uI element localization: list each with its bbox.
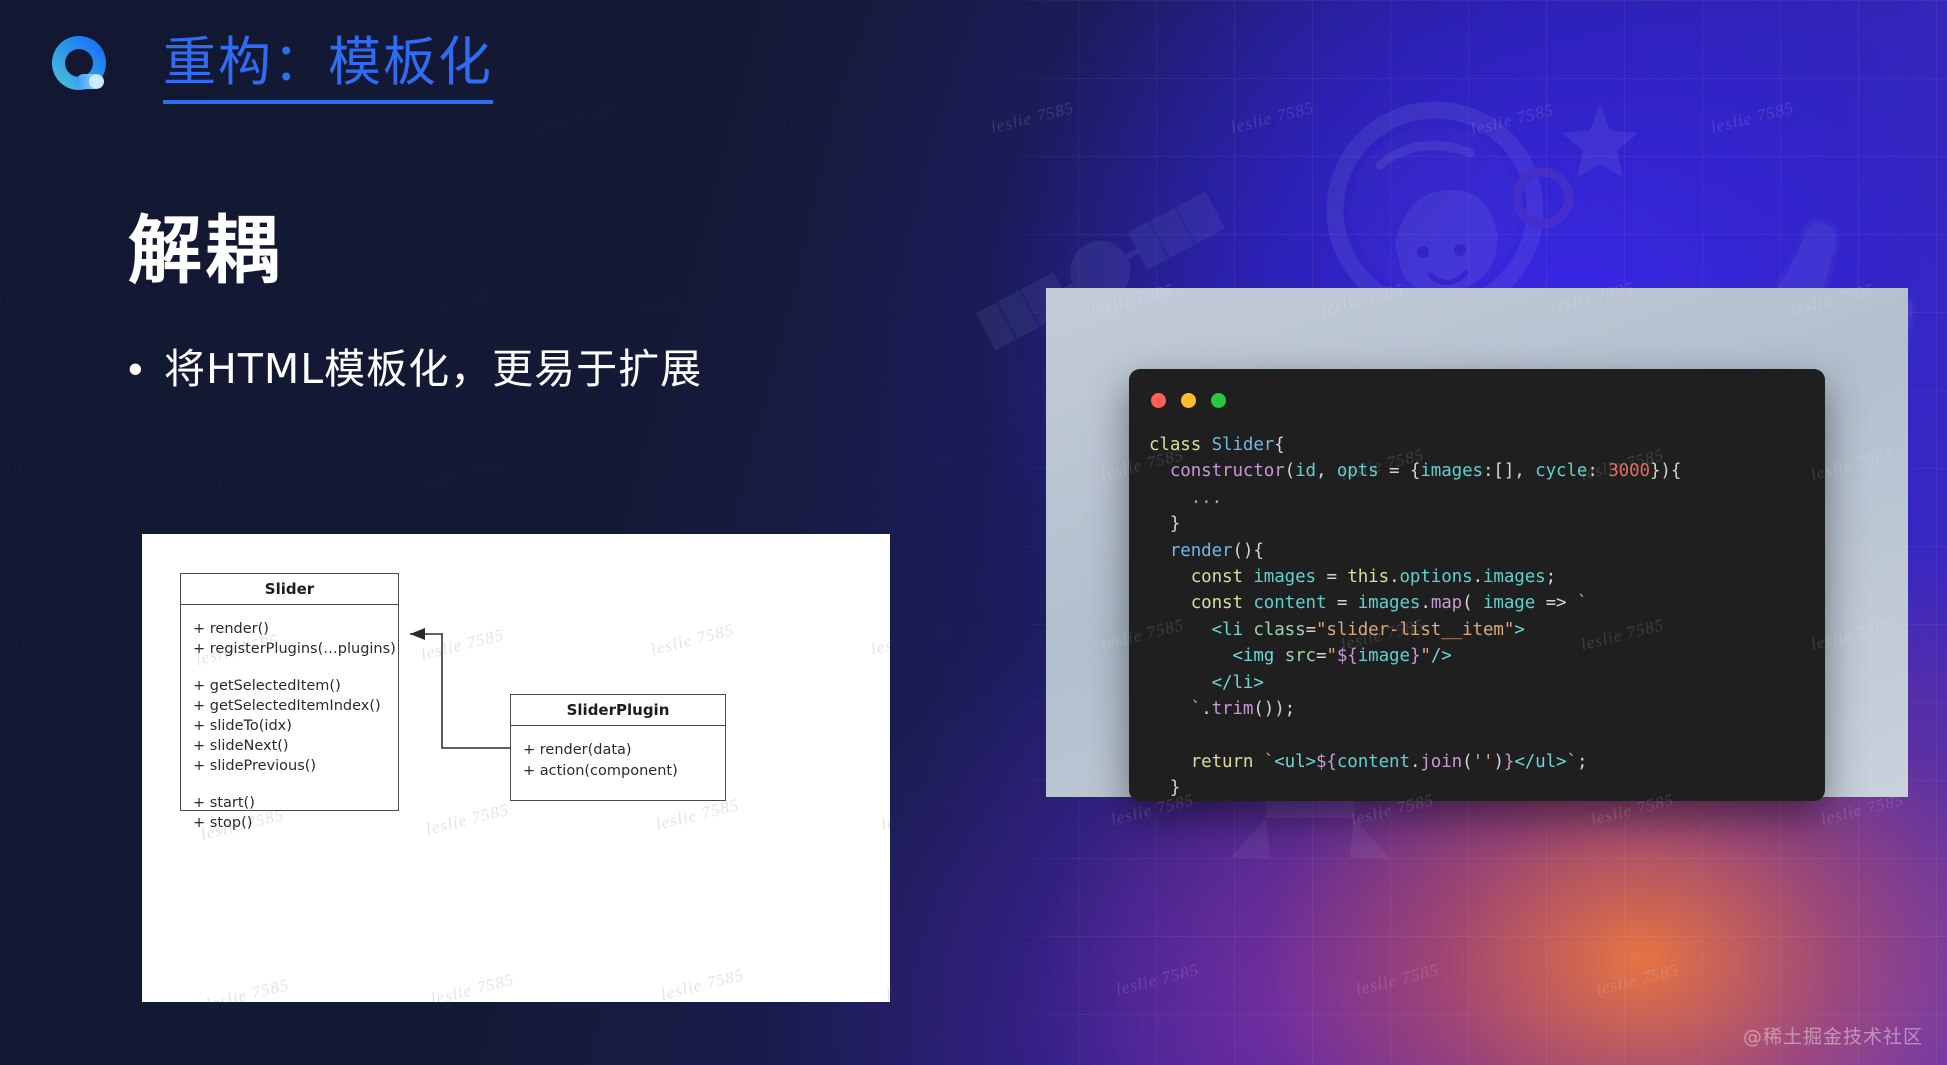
maximize-icon[interactable] — [1211, 393, 1226, 408]
watermark: leslie 7585 — [189, 460, 276, 500]
watermark: leslie 7585 — [1709, 98, 1796, 138]
watermark: leslie 7585 — [759, 100, 846, 140]
watermark: leslie 7585 — [649, 450, 736, 490]
uml-member: + getSelectedItemIndex() — [193, 696, 398, 716]
code-editor-window[interactable]: class Slider{ constructor(id, opts = {im… — [1129, 369, 1825, 801]
window-traffic-lights[interactable] — [1151, 393, 1226, 408]
watermark: leslie 7585 — [884, 965, 971, 1005]
watermark: leslie 7585 — [1469, 100, 1556, 140]
uml-member: + render(data) — [523, 740, 725, 761]
watermark: leslie 7585 — [0, 795, 76, 835]
watermark: leslie 7585 — [94, 118, 181, 158]
watermark: leslie 7585 — [859, 280, 946, 320]
watermark: leslie 7585 — [989, 98, 1076, 138]
minimize-icon[interactable] — [1181, 393, 1196, 408]
star-illustration — [1560, 100, 1640, 180]
watermark: leslie 7585 — [529, 100, 616, 140]
uml-class-title: Slider — [181, 574, 398, 605]
watermark: leslie 7585 — [409, 285, 496, 325]
uml-member: + start() — [193, 793, 398, 813]
section-heading: 解耦 — [128, 208, 282, 294]
watermark: leslie 7585 — [184, 290, 271, 330]
uml-class-slider: Slider + render() + registerPlugins(…plu… — [180, 573, 399, 811]
watermark: leslie 7585 — [0, 445, 76, 485]
uml-member: + slideNext() — [193, 736, 398, 756]
attribution-watermark: @稀土掘金技术社区 — [1743, 1022, 1923, 1049]
slide-canvas: leslie 7585 leslie 7585 leslie 7585 lesl… — [0, 0, 1947, 1065]
watermark: leslie 7585 — [0, 275, 68, 315]
uml-class-members: + render() + registerPlugins(…plugins) +… — [181, 605, 398, 843]
uml-member-spacer — [193, 776, 398, 793]
bullet-marker: • — [128, 340, 142, 398]
uml-member-spacer — [193, 659, 398, 676]
uml-class-sliderplugin: SliderPlugin + render(data) + action(com… — [510, 694, 726, 801]
watermark: leslie 7585 — [419, 455, 506, 495]
watermark: leslie 7585 — [289, 102, 376, 142]
code-content[interactable]: class Slider{ constructor(id, opts = {im… — [1149, 432, 1815, 801]
uml-member: + registerPlugins(…plugins) — [193, 639, 398, 659]
uml-member: + stop() — [193, 813, 398, 833]
watermark: leslie 7585 — [879, 795, 966, 835]
watermark: leslie 7585 — [1114, 960, 1201, 1000]
watermark: leslie 7585 — [0, 965, 74, 1005]
watermark: leslie 7585 — [0, 105, 76, 145]
watermark: leslie 7585 — [1229, 98, 1316, 138]
uml-diagram-panel: Slider + render() + registerPlugins(…plu… — [142, 534, 890, 1002]
close-icon[interactable] — [1151, 393, 1166, 408]
watermark: leslie 7585 — [1354, 960, 1441, 1000]
uml-member: + getSelectedItem() — [193, 676, 398, 696]
uml-class-members: + render(data) + action(component) — [511, 726, 725, 792]
uml-class-title: SliderPlugin — [511, 695, 725, 726]
bullet-text: 将HTML模板化，更易于扩展 — [164, 340, 702, 398]
watermark: leslie 7585 — [869, 450, 956, 490]
uml-member: + slideTo(idx) — [193, 716, 398, 736]
watermark: leslie 7585 — [1594, 960, 1681, 1000]
juejin-logo-icon — [48, 32, 110, 94]
watermark: leslie 7585 — [0, 620, 72, 660]
watermark: leslie 7585 — [639, 280, 726, 320]
uml-member: + slidePrevious() — [193, 756, 398, 776]
bullet-item: • 将HTML模板化，更易于扩展 — [128, 340, 702, 398]
page-title: 重构：模板化 — [163, 32, 493, 104]
uml-member: + action(component) — [523, 761, 725, 782]
uml-member: + render() — [193, 619, 398, 639]
